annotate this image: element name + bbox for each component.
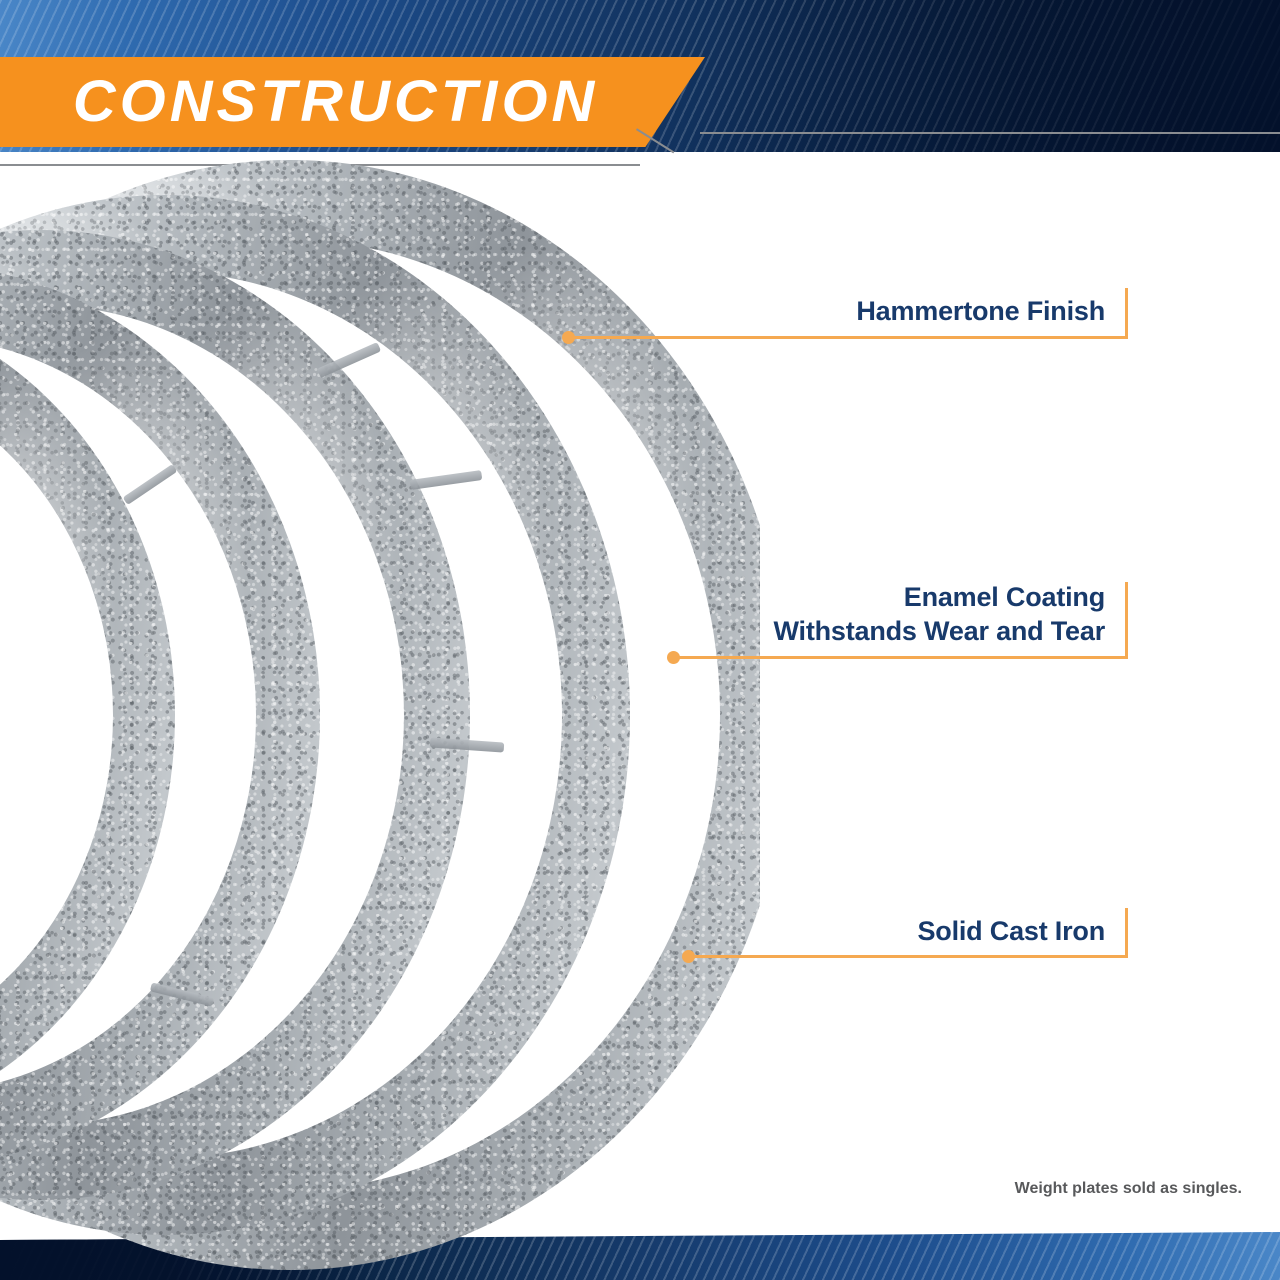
- product-photo: [0, 150, 760, 1270]
- callout-label-enamel: Enamel Coating Withstands Wear and Tear: [640, 580, 1105, 648]
- product-photo-footer-overlap: [0, 1232, 760, 1280]
- callout-bracket-enamel: [1125, 582, 1128, 659]
- weight-plate-rim-outer-overlap: [0, 1232, 760, 1270]
- callout-leader-line-hammertone: [568, 336, 1128, 339]
- section-title-banner: CONSTRUCTION: [0, 57, 705, 147]
- callout-leader-line-enamel: [673, 656, 1128, 659]
- callout-line: Enamel Coating: [640, 580, 1105, 614]
- page-title: CONSTRUCTION: [73, 73, 599, 131]
- callout-line: Withstands Wear and Tear: [640, 614, 1105, 648]
- callout-label-cast-iron: Solid Cast Iron: [700, 914, 1105, 948]
- callout-bracket-hammertone: [1125, 288, 1128, 339]
- infographic-canvas: CONSTRUCTION Hammertone Finish: [0, 0, 1280, 1280]
- callout-line: Solid Cast Iron: [700, 914, 1105, 948]
- callout-leader-line-cast-iron: [688, 955, 1128, 958]
- callout-line: Hammertone Finish: [700, 294, 1105, 328]
- callout-label-hammertone: Hammertone Finish: [700, 294, 1105, 328]
- footnote-disclaimer: Weight plates sold as singles.: [1015, 1180, 1242, 1198]
- callout-bracket-cast-iron: [1125, 908, 1128, 958]
